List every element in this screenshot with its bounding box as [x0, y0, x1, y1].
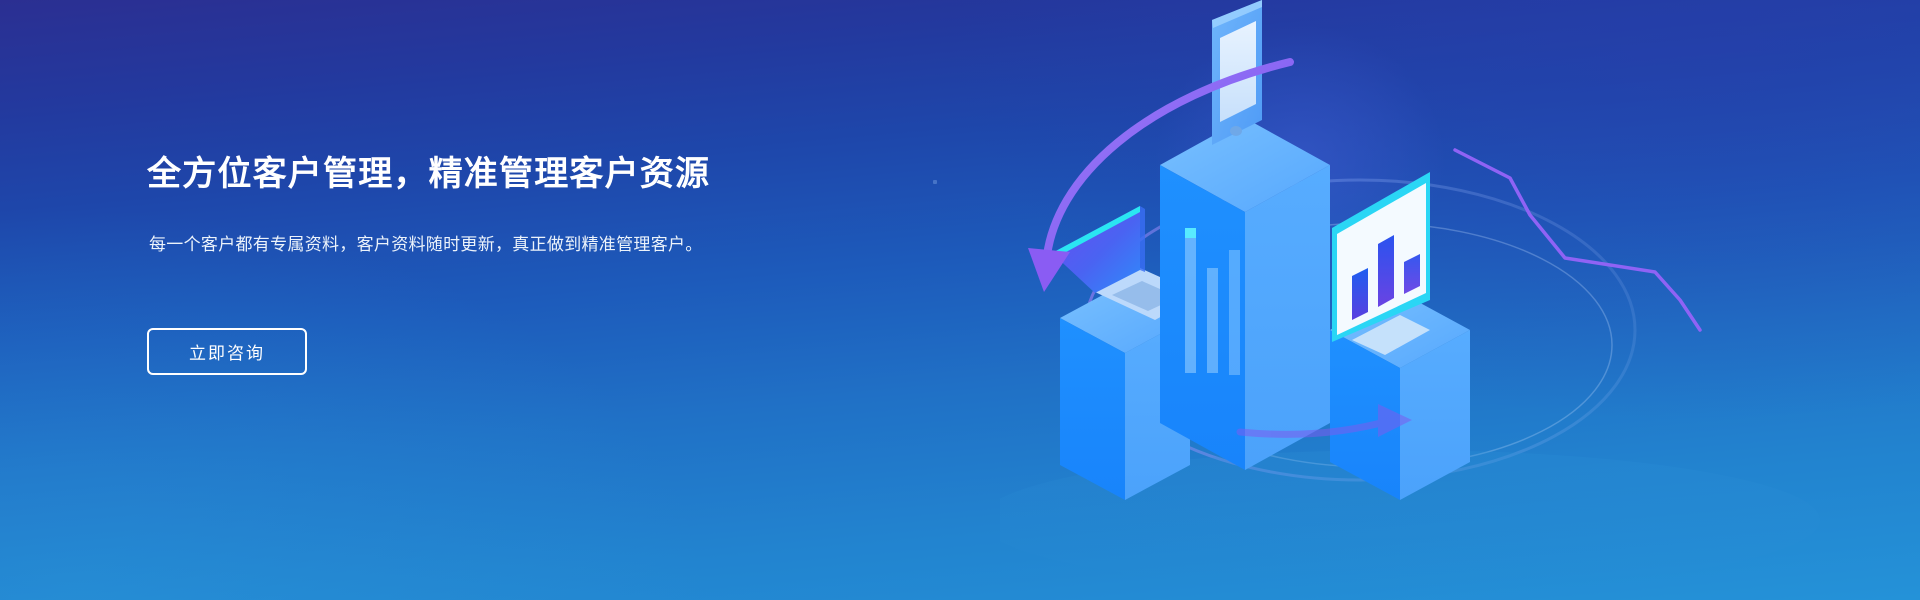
hero-subtitle: 每一个客户都有专属资料，客户资料随时更新，真正做到精准管理客户。: [149, 232, 729, 258]
chart-bar-2: [1378, 235, 1394, 307]
inner-bar-1: [1185, 228, 1196, 373]
chart-bar-1: [1352, 268, 1368, 320]
inner-bar-3: [1229, 250, 1240, 375]
page-title: 全方位客户管理，精准管理客户资源: [147, 154, 710, 195]
tablet-home-button: [1230, 126, 1242, 136]
background-speck: [933, 180, 937, 184]
pedestal-center: [1160, 118, 1330, 470]
hero-banner: 全方位客户管理，精准管理客户资源 每一个客户都有专属资料，客户资料随时更新，真正…: [0, 0, 1920, 600]
inner-bar-2: [1207, 268, 1218, 373]
isometric-illustration: [1000, 0, 1920, 600]
hero-content: 全方位客户管理，精准管理客户资源 每一个客户都有专属资料，客户资料随时更新，真正…: [147, 0, 907, 600]
consult-now-button[interactable]: 立即咨询: [147, 328, 307, 375]
